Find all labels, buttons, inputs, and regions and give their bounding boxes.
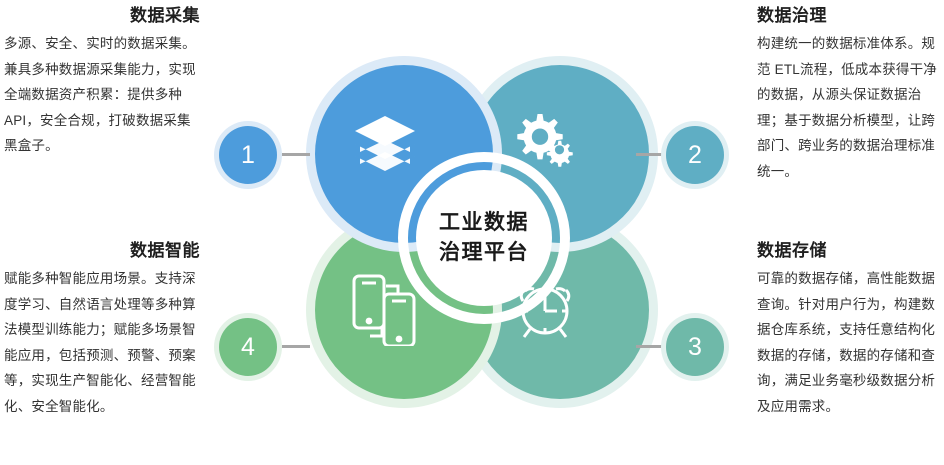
infographic-canvas: 数据采集 多源、安全、实时的数据采集。兼具多种数据源采集能力，实现全端数据资产积… — [0, 0, 944, 465]
step-badge-1-number: 1 — [241, 143, 255, 168]
center-label-line-1: 工业数据 — [439, 208, 529, 238]
section-title-data-collection: 数据采集 — [4, 5, 200, 27]
section-data-intelligence: 数据智能 赋能多种智能应用场景。支持深度学习、自然语言处理等多种算法模型训练能力… — [4, 240, 200, 419]
connector-line-4 — [282, 345, 310, 348]
step-badge-2-number: 2 — [688, 143, 702, 168]
connector-line-3 — [636, 345, 664, 348]
section-title-data-intelligence: 数据智能 — [4, 240, 200, 262]
section-body-data-collection: 多源、安全、实时的数据采集。兼具多种数据源采集能力，实现全端数据资产积累：提供多… — [4, 31, 200, 159]
petal-diagram: 工业数据 治理平台 — [296, 52, 668, 424]
section-title-data-storage: 数据存储 — [757, 240, 944, 262]
step-badge-4[interactable]: 4 — [219, 318, 277, 376]
section-data-collection: 数据采集 多源、安全、实时的数据采集。兼具多种数据源采集能力，实现全端数据资产积… — [4, 5, 200, 159]
section-data-governance: 数据治理 构建统一的数据标准体系。规范 ETL流程，低成本获得干净的数据，从源头… — [757, 5, 944, 184]
step-badge-3-number: 3 — [688, 335, 702, 360]
section-body-data-intelligence: 赋能多种智能应用场景。支持深度学习、自然语言处理等多种算法模型训练能力；赋能多场… — [4, 266, 200, 419]
step-badge-2[interactable]: 2 — [666, 126, 724, 184]
section-body-data-governance: 构建统一的数据标准体系。规范 ETL流程，低成本获得干净的数据，从源头保证数据治… — [757, 31, 944, 184]
step-badge-3[interactable]: 3 — [666, 318, 724, 376]
connector-line-1 — [282, 153, 310, 156]
center-platform-label: 工业数据 治理平台 — [416, 170, 552, 306]
step-badge-4-number: 4 — [241, 335, 255, 360]
section-data-storage: 数据存储 可靠的数据存储，高性能数据查询。针对用户行为，构建数据仓库系统，支持任… — [757, 240, 944, 419]
section-title-data-governance: 数据治理 — [757, 5, 944, 27]
section-body-data-storage: 可靠的数据存储，高性能数据查询。针对用户行为，构建数据仓库系统，支持任意结构化数… — [757, 266, 944, 419]
step-badge-1[interactable]: 1 — [219, 126, 277, 184]
connector-line-2 — [636, 153, 664, 156]
center-label-line-2: 治理平台 — [439, 238, 529, 268]
